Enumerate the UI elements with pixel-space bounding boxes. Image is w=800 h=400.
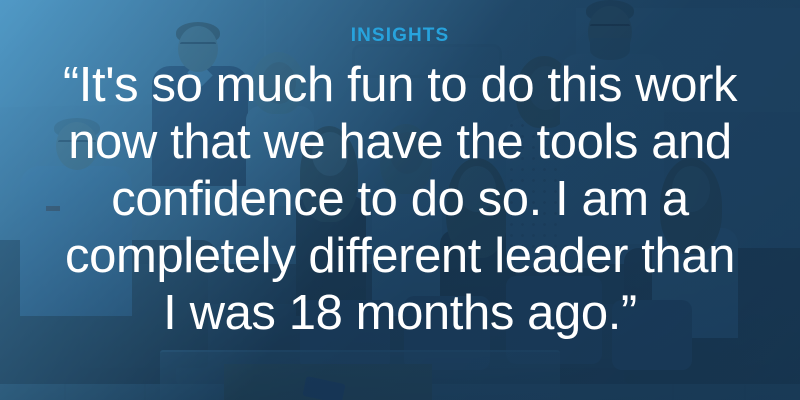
- pull-quote: “It's so much fun to do this work now th…: [20, 57, 780, 342]
- quote-line-3: confidence to do so. I am a: [20, 171, 780, 228]
- quote-line-4: completely different leader than: [20, 228, 780, 285]
- quote-line-2: now that we have the tools and: [20, 114, 780, 171]
- card-content: INSIGHTS “It's so much fun to do this wo…: [0, 0, 800, 400]
- quote-line-5: I was 18 months ago.”: [20, 285, 780, 342]
- quote-line-1: “It's so much fun to do this work: [20, 57, 780, 114]
- eyebrow-label: INSIGHTS: [351, 26, 450, 45]
- insights-quote-card: INSIGHTS “It's so much fun to do this wo…: [0, 0, 800, 400]
